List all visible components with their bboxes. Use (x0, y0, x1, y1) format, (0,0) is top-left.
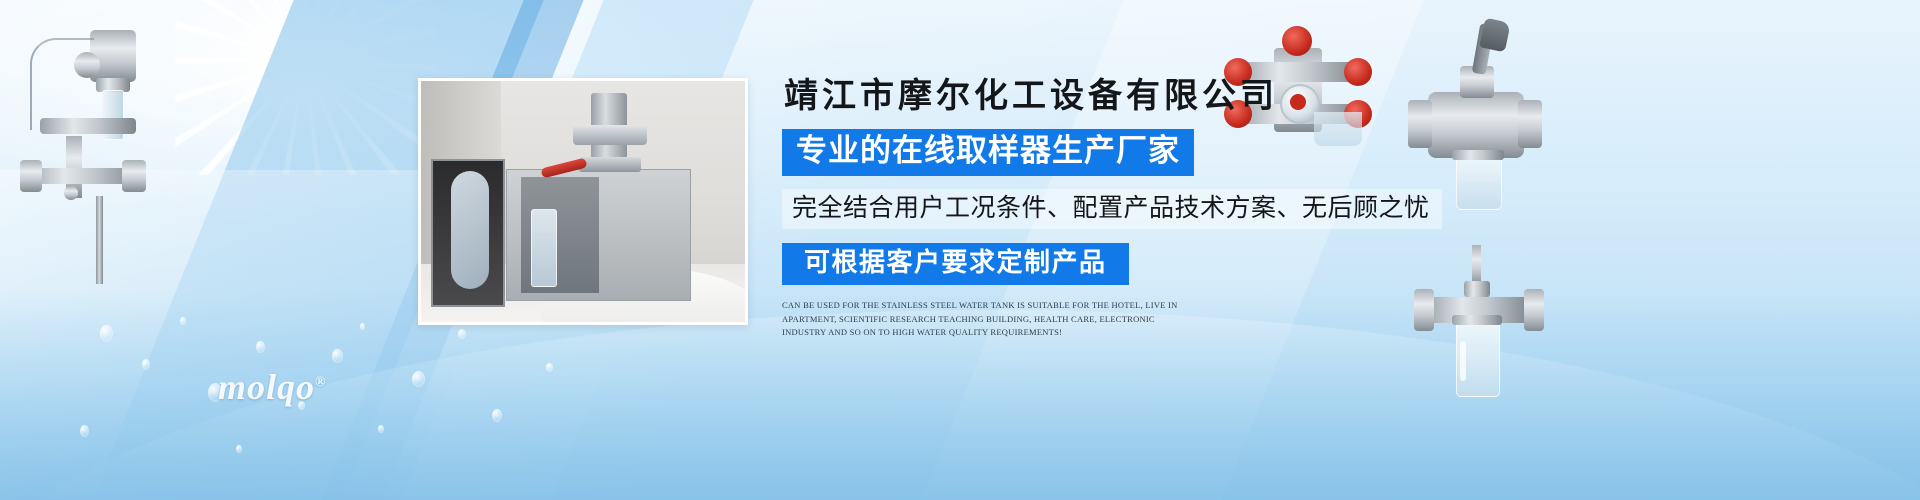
product-photo (418, 78, 748, 325)
decor-sight-glass-sampler (1412, 245, 1562, 415)
water-droplets-decor (60, 305, 620, 485)
english-blurb: CAN BE USED FOR THE STAINLESS STEEL WATE… (782, 299, 1182, 340)
sunburst-decor (175, 0, 435, 175)
banner-text-block: 靖江市摩尔化工设备有限公司 专业的在线取样器生产厂家 完全结合用户工况条件、配置… (782, 78, 1402, 340)
promo-banner: 靖江市摩尔化工设备有限公司 专业的在线取样器生产厂家 完全结合用户工况条件、配置… (0, 0, 1920, 500)
decor-lever-valve (1400, 20, 1550, 210)
watermark-text: molqo (218, 367, 315, 407)
cta-highlight: 可根据客户要求定制产品 (782, 243, 1129, 285)
sub-headline: 完全结合用户工况条件、配置产品技术方案、无后顾之忧 (782, 189, 1442, 229)
company-name: 靖江市摩尔化工设备有限公司 (784, 78, 1402, 115)
headline-highlight: 专业的在线取样器生产厂家 (782, 129, 1194, 176)
watermark-logo: molqo® (218, 366, 326, 408)
decor-left-equipment (10, 18, 160, 288)
registered-mark-icon: ® (315, 375, 326, 390)
